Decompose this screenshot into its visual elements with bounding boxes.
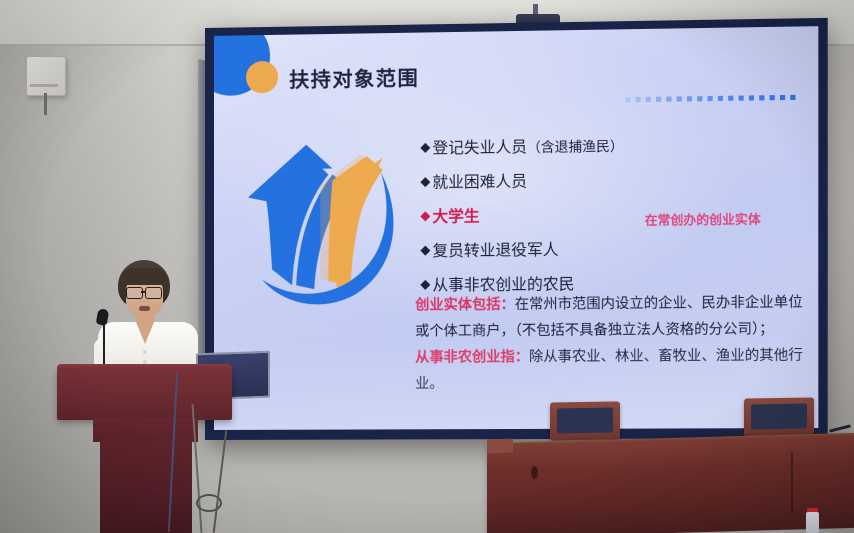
book-page-logo-icon	[236, 127, 427, 320]
wall-speaker-box	[26, 56, 66, 96]
paragraph-lead: 创业实体包括：	[415, 297, 515, 314]
decor-orange-circle	[246, 61, 278, 94]
slide-content: 扶持对象范围	[214, 26, 818, 430]
decor-dot	[666, 97, 671, 102]
presenter-fringe	[120, 268, 168, 285]
decor-dot	[708, 96, 713, 101]
decor-dot	[728, 96, 733, 101]
conference-desk	[487, 436, 854, 533]
chair	[744, 397, 814, 436]
wall-speaker-vent	[30, 84, 58, 87]
decor-dot	[790, 95, 795, 100]
decor-dot	[749, 95, 754, 100]
podium-microphone-stand	[103, 318, 105, 370]
desk-cable-grommet	[531, 466, 538, 479]
diamond-bullet-icon: ◆	[420, 140, 430, 155]
screenshot-root: 扶持对象范围	[0, 0, 854, 533]
presenter-mouth	[139, 306, 150, 311]
diamond-bullet-icon: ◆	[420, 277, 430, 292]
decor-dot	[646, 97, 651, 102]
wall-speaker-antenna	[44, 93, 47, 115]
slide-title: 扶持对象范围	[289, 62, 419, 93]
glasses-right-lens	[145, 287, 162, 299]
list-item-highlighted: ◆ 大学生	[420, 203, 623, 227]
list-item-suffix: （含退捕渔民）	[527, 135, 624, 156]
chair-back-pad	[751, 404, 807, 430]
projection-screen-frame: 扶持对象范围	[205, 18, 828, 440]
decor-dot-row	[625, 95, 795, 102]
paragraph-lead: 从事非农创业指：	[415, 349, 529, 366]
list-item: ◆ 就业困难人员	[420, 168, 623, 193]
desk-left-cap	[487, 439, 513, 454]
list-item: ◆ 登记失业人员 （含退捕渔民）	[420, 134, 623, 159]
chair	[550, 401, 620, 440]
decor-dot	[718, 96, 723, 101]
decor-dot	[697, 96, 702, 101]
bullet-list: ◆ 登记失业人员 （含退捕渔民） ◆ 就业困难人员 ◆ 大学生 ◆ 复员转业	[420, 134, 623, 308]
decor-dot	[635, 97, 640, 102]
diamond-bullet-icon: ◆	[420, 174, 430, 189]
water-bottle	[806, 512, 819, 533]
desk-panel-seam	[791, 452, 793, 514]
list-item-label: 就业困难人员	[432, 169, 527, 192]
decor-dot	[687, 96, 692, 101]
paragraph-block: 创业实体包括：在常州市范围内设立的企业、民办非企业单位或个体工商户，（不包括不具…	[415, 289, 807, 397]
decor-dot	[759, 95, 764, 100]
paragraph: 从事非农创业指：除从事农业、林业、畜牧业、渔业的其他行业。	[415, 342, 807, 397]
podium-body	[100, 440, 192, 533]
decor-dot	[780, 95, 785, 100]
list-item-label: 登记失业人员	[432, 135, 527, 158]
diamond-bullet-icon: ◆	[420, 242, 430, 257]
blouse-button	[143, 350, 147, 354]
glasses-left-lens	[126, 287, 143, 299]
chair-back-pad	[557, 408, 613, 434]
paragraph: 创业实体包括：在常州市范围内设立的企业、民办非企业单位或个体工商户，（不包括不具…	[415, 289, 807, 344]
decor-dot	[739, 96, 744, 101]
decor-dot	[625, 97, 630, 102]
projection-screen-surface: 扶持对象范围	[214, 26, 818, 430]
list-item: ◆ 复员转业退役军人	[420, 237, 623, 261]
podium-midsection	[93, 418, 198, 442]
diamond-bullet-icon: ◆	[420, 208, 430, 223]
list-item-label: 复员转业退役军人	[432, 238, 558, 261]
side-annotation: 在常创办的创业实体	[645, 208, 761, 228]
decor-dot	[656, 97, 661, 102]
decor-dot	[770, 95, 775, 100]
list-item-label: 大学生	[432, 204, 479, 227]
decor-dot	[677, 96, 682, 101]
podium-top	[57, 368, 232, 420]
glasses-bridge	[141, 291, 146, 293]
